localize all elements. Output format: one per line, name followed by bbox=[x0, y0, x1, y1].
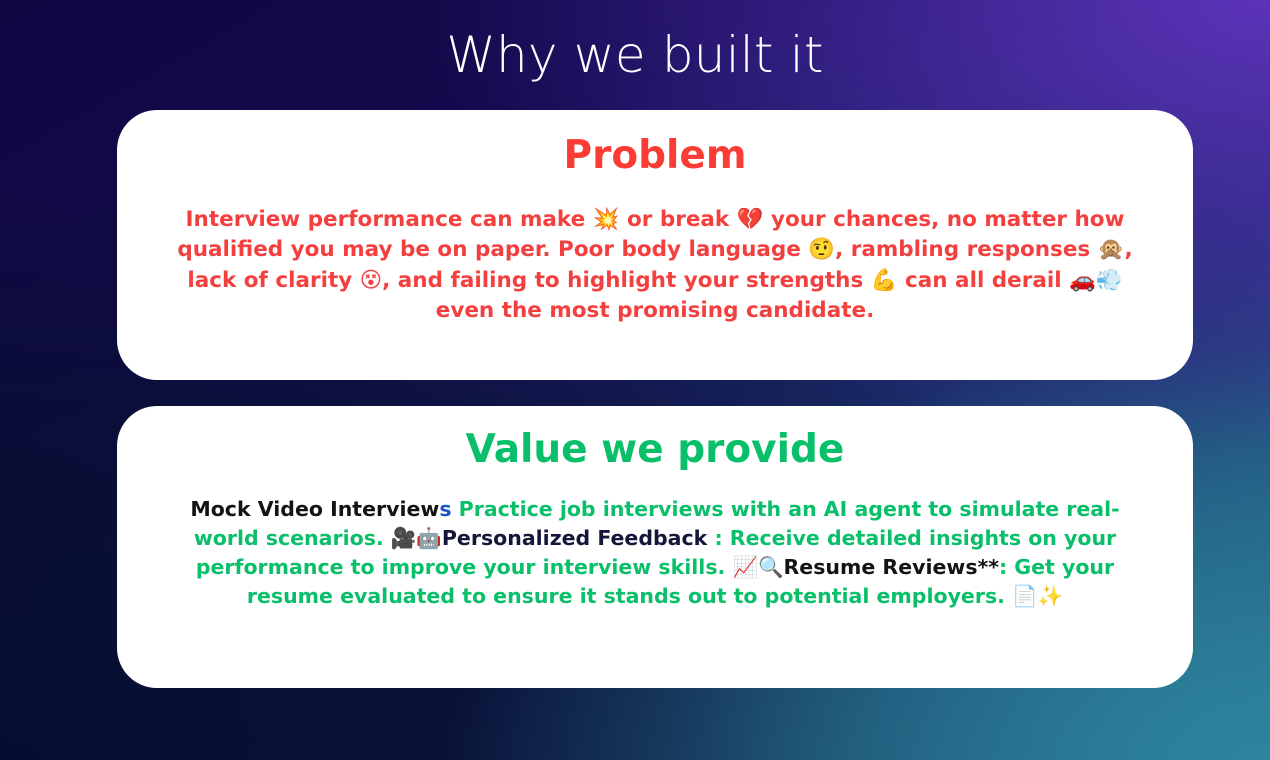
text-run: 📈🔍 bbox=[732, 555, 783, 579]
text-run: Resume Reviews** bbox=[784, 555, 999, 579]
text-run: 📄✨ bbox=[1012, 584, 1063, 608]
value-card-heading: Value we provide bbox=[117, 406, 1193, 472]
value-card: Value we provide Mock Video Interviews P… bbox=[117, 406, 1193, 688]
text-run: 💪 bbox=[871, 268, 898, 293]
text-run: 🙊 bbox=[1098, 237, 1125, 262]
text-run: 🤨 bbox=[808, 237, 835, 262]
text-run: , and failing to highlight your strength… bbox=[382, 268, 871, 293]
text-run: Interview performance can make bbox=[186, 207, 593, 232]
text-run: , rambling responses bbox=[835, 237, 1098, 262]
text-run: even the most promising candidate. bbox=[436, 298, 874, 323]
text-run: 🎥🤖 bbox=[391, 526, 442, 550]
slide-canvas: Why we built it Problem Interview perfor… bbox=[0, 0, 1270, 760]
text-run: Personalized Feedback bbox=[442, 526, 715, 550]
text-run: 💔 bbox=[737, 207, 764, 232]
text-run: 🚗💨 bbox=[1069, 268, 1123, 293]
value-card-body: Mock Video Interviews Practice job inter… bbox=[117, 472, 1193, 611]
text-run: Mock Video Interview bbox=[190, 497, 439, 521]
problem-card-body: Interview performance can make 💥 or brea… bbox=[117, 178, 1193, 327]
problem-card: Problem Interview performance can make 💥… bbox=[117, 110, 1193, 380]
text-run: can all derail bbox=[898, 268, 1070, 293]
text-run: s bbox=[439, 497, 451, 521]
text-run: 😵 bbox=[360, 268, 382, 293]
text-run: or break bbox=[619, 207, 736, 232]
text-run: 💥 bbox=[593, 207, 620, 232]
page-title: Why we built it bbox=[0, 22, 1270, 88]
problem-card-heading: Problem bbox=[117, 110, 1193, 178]
